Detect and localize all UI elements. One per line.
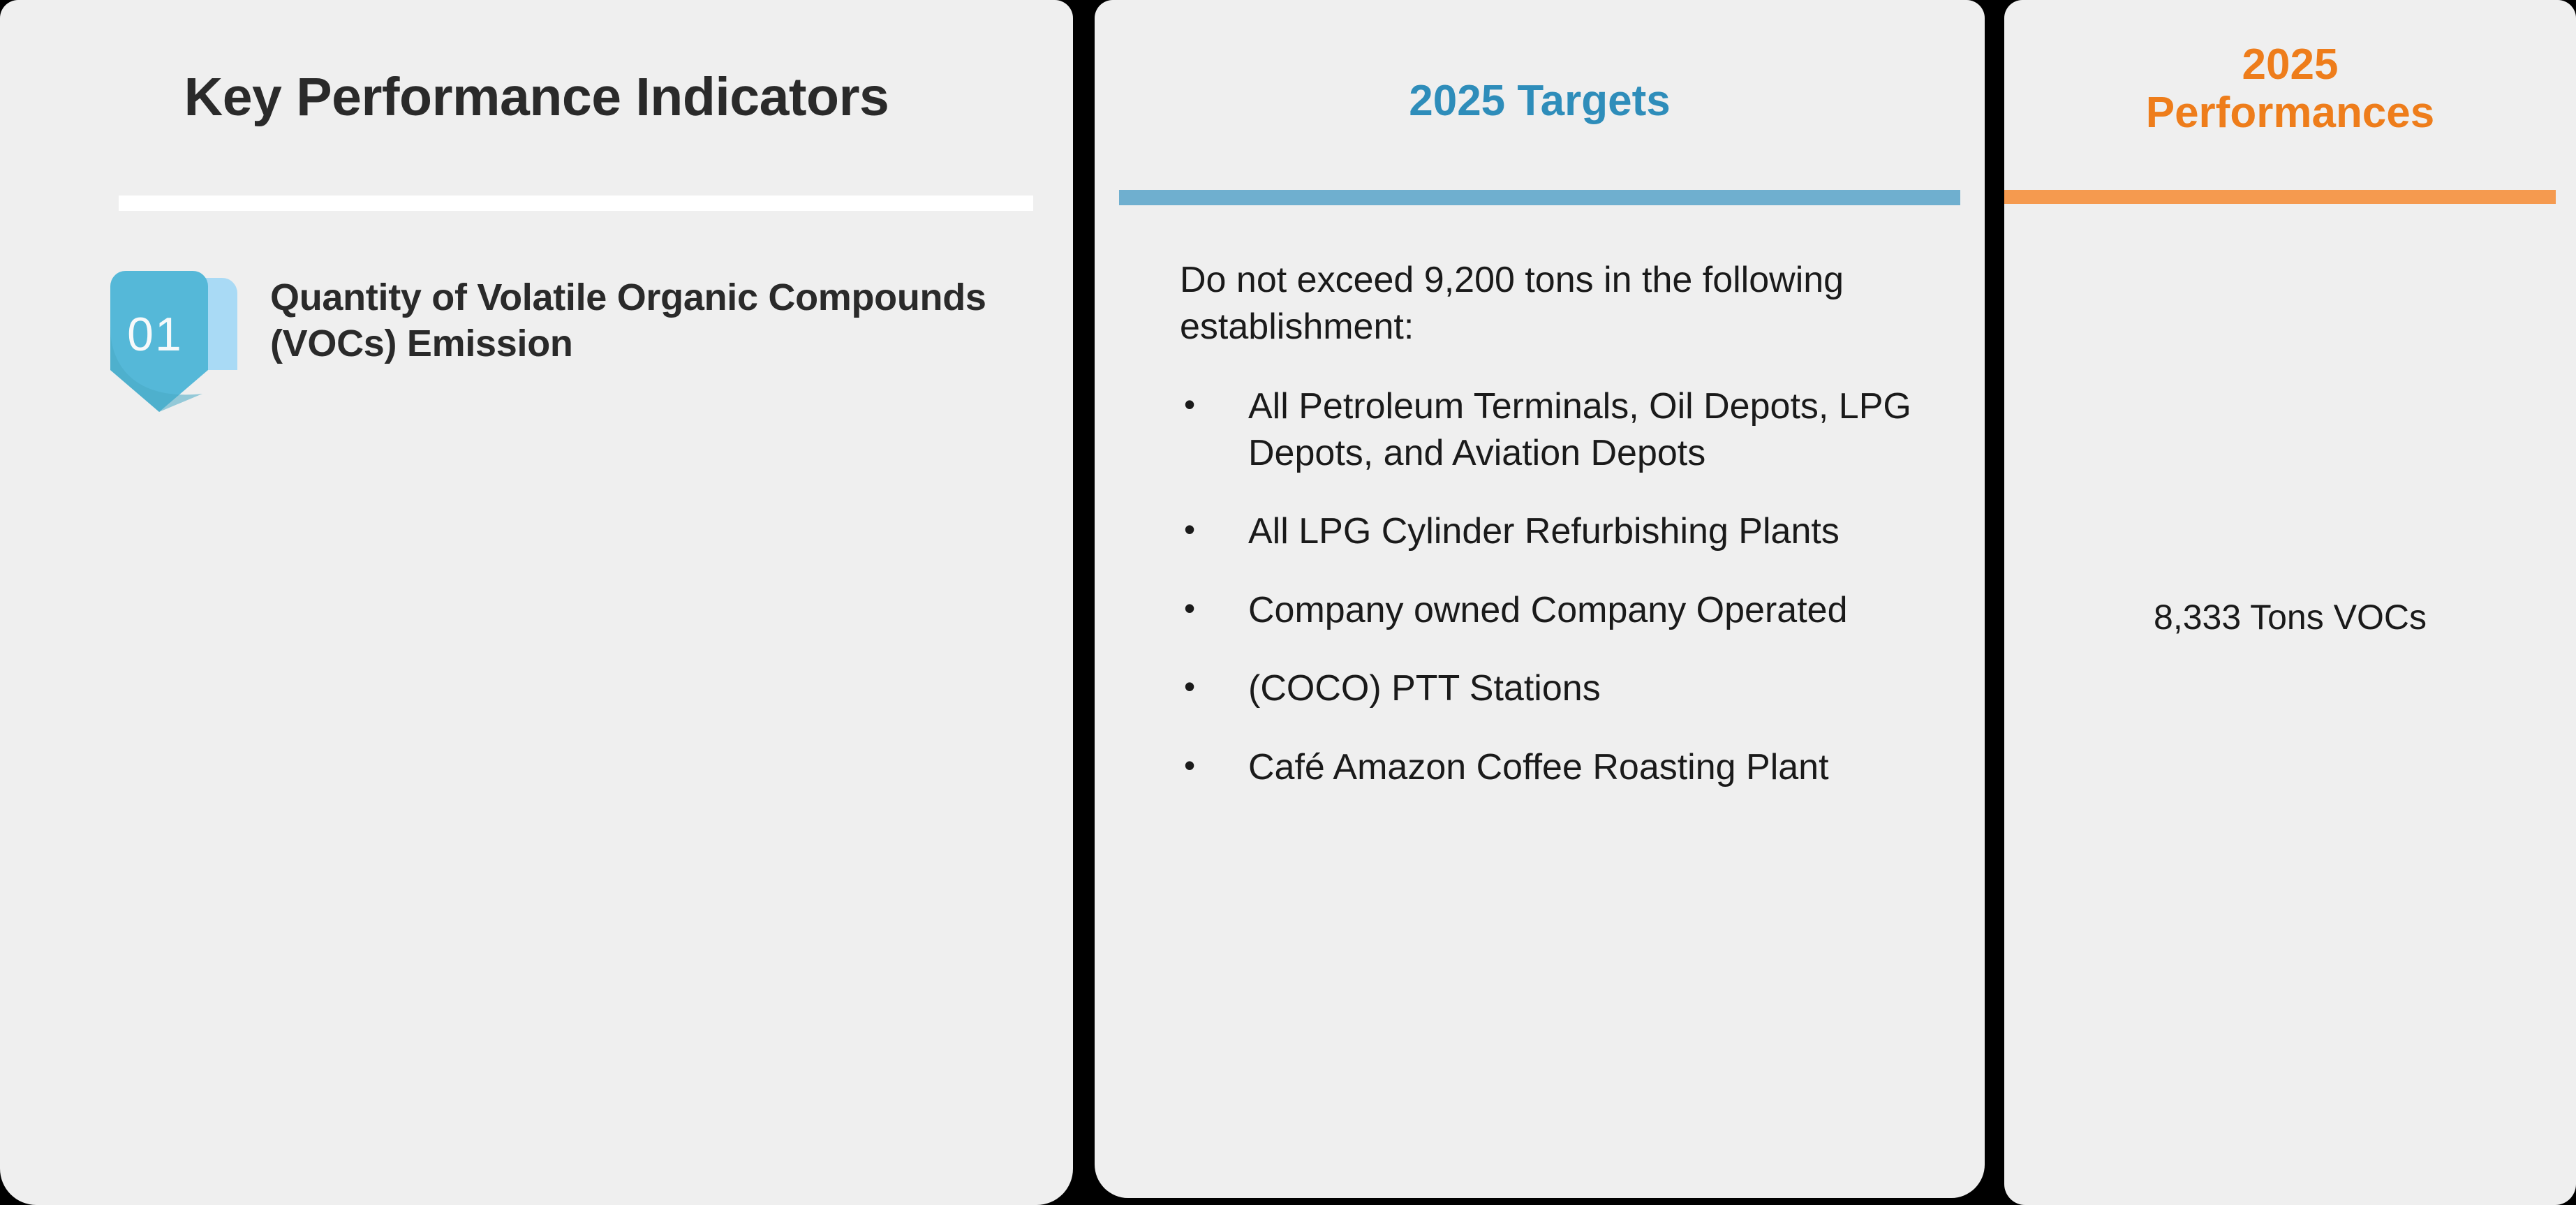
list-item: • All LPG Cylinder Refurbishing Plants <box>1180 508 1941 555</box>
performance-heading-line2: Performances <box>2146 89 2435 137</box>
list-item: • All Petroleum Terminals, Oil Depots, L… <box>1180 383 1941 476</box>
list-item: • Café Amazon Coffee Roasting Plant <box>1180 744 1941 791</box>
list-item: • Company owned Company Operated <box>1180 587 1941 634</box>
kpi-panel: Key Performance Indicators 01 Quantity o… <box>0 0 1073 1205</box>
targets-heading-divider <box>1119 190 1960 205</box>
bullet-icon: • <box>1180 665 1248 712</box>
list-item-text: Company owned Company Operated <box>1248 587 1941 634</box>
list-item-text: All Petroleum Terminals, Oil Depots, LPG… <box>1248 383 1941 476</box>
kpi-indicator-label: Quantity of Volatile Organic Compounds (… <box>270 264 1033 367</box>
badge-number-01: 01 <box>105 264 248 428</box>
bullet-icon: • <box>1180 383 1248 476</box>
performance-heading-divider <box>2004 190 2556 204</box>
targets-content: Do not exceed 9,200 tons in the followin… <box>1180 257 1941 822</box>
list-item-text: (COCO) PTT Stations <box>1248 665 1941 712</box>
bullet-icon: • <box>1180 508 1248 555</box>
badge-number-text: 01 <box>127 308 183 361</box>
bullet-icon: • <box>1180 587 1248 634</box>
performance-heading: 2025 Performances <box>2004 40 2576 138</box>
list-item-text: Café Amazon Coffee Roasting Plant <box>1248 744 1941 791</box>
kpi-title-divider <box>119 195 1033 211</box>
bullet-icon: • <box>1180 744 1248 791</box>
list-item-text: All LPG Cylinder Refurbishing Plants <box>1248 508 1941 555</box>
targets-panel: 2025 Targets Do not exceed 9,200 tons in… <box>1095 0 1985 1198</box>
list-item: • (COCO) PTT Stations <box>1180 665 1941 712</box>
performance-heading-line1: 2025 <box>2242 40 2339 89</box>
targets-heading: 2025 Targets <box>1095 77 1985 125</box>
performance-panel: 2025 Performances 8,333 Tons VOCs <box>2004 0 2576 1205</box>
targets-intro-text: Do not exceed 9,200 tons in the followin… <box>1180 257 1941 350</box>
targets-bullet-list: • All Petroleum Terminals, Oil Depots, L… <box>1180 383 1941 790</box>
kpi-indicator-row: 01 Quantity of Volatile Organic Compound… <box>105 264 1033 428</box>
performance-value: 8,333 Tons VOCs <box>2004 597 2576 637</box>
page-title: Key Performance Indicators <box>0 66 1073 128</box>
shield-badge-icon: 01 <box>105 264 248 428</box>
